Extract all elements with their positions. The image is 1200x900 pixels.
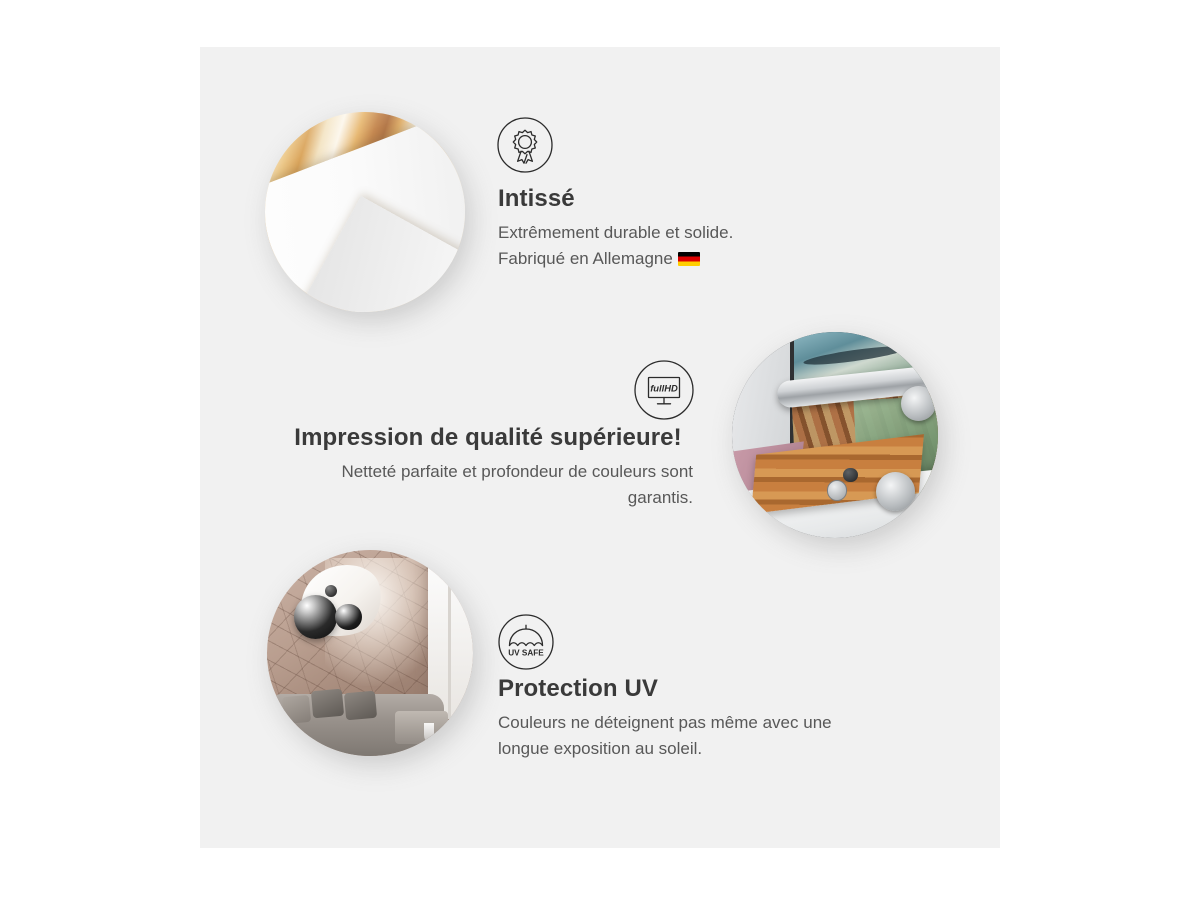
feature-body-impression: Netteté parfaite et profondeur de couleu…: [283, 459, 693, 511]
printer-black-knob: [843, 468, 857, 482]
living-room-geometric-wallpaper-photo: [267, 550, 473, 756]
fullhd-monitor-icon: fullHD: [634, 360, 694, 420]
germany-flag-icon: [678, 252, 700, 266]
uv-safe-label: UV SAFE: [508, 648, 544, 657]
printer-roller-disc-right: [901, 386, 936, 421]
award-ribbon-icon: [497, 117, 553, 173]
feature-body-line: Netteté parfaite et profondeur de couleu…: [283, 459, 693, 485]
feature-body-line-with-flag: Fabriqué en Allemagne: [498, 246, 918, 272]
feature-body-line-text: Fabriqué en Allemagne: [498, 249, 673, 268]
feature-body-intisse: Extrêmement durable et solide. Fabriqué …: [498, 220, 918, 272]
sofa-cushion: [344, 691, 377, 720]
feature-body-line: longue exposition au soleil.: [498, 736, 898, 762]
feature-title-intisse: Intissé: [498, 185, 918, 213]
feature-text-impression: Impression de qualité supérieure! Nettet…: [283, 424, 693, 511]
feature-title-impression: Impression de qualité supérieure!: [283, 424, 693, 452]
feature-text-intisse: Intissé Extrêmement durable et solide. F…: [498, 185, 918, 272]
product-feature-page: Intissé Extrêmement durable et solide. F…: [0, 0, 1200, 900]
black-sphere-medium: [335, 604, 362, 631]
printer-metal-knob: [827, 480, 848, 501]
feature-body-uv: Couleurs ne déteignent pas même avec une…: [498, 710, 898, 762]
feature-text-uv: Protection UV Couleurs ne déteignent pas…: [498, 675, 898, 762]
black-sphere-large: [294, 595, 337, 638]
uv-safe-umbrella-icon: UV SAFE: [498, 614, 554, 670]
feature-body-line: Couleurs ne déteignent pas même avec une: [498, 710, 898, 736]
feature-title-uv: Protection UV: [498, 675, 898, 703]
fullhd-label: fullHD: [650, 382, 678, 393]
drinking-glass: [424, 723, 434, 742]
feature-body-line: Extrêmement durable et solide.: [498, 220, 918, 246]
wallpaper-roll-peeled-corner-photo: [265, 112, 465, 312]
feature-body-line: garantis.: [283, 485, 693, 511]
sofa-ottoman: [395, 711, 449, 744]
sofa-cushion: [311, 689, 344, 718]
printing-machine-photo: [732, 332, 938, 538]
sofa-cushion: [282, 695, 311, 724]
